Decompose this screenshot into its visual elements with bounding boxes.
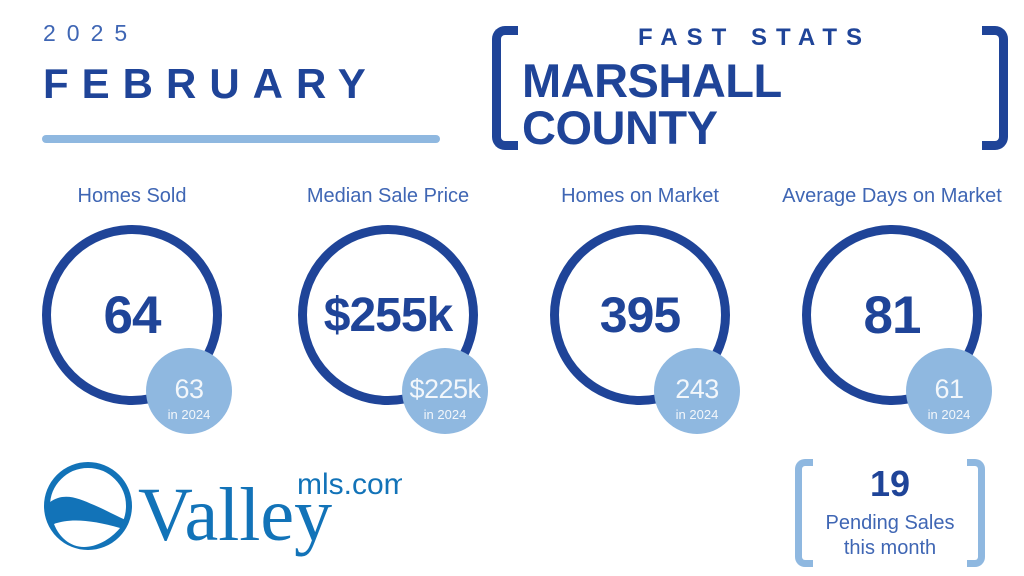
stat-card-average-days-on-market: Average Days on Market 81 61 in 2024 (764, 186, 1020, 446)
valley-suffix: mls.com (297, 468, 402, 501)
eyebrow-label: FAST STATS (638, 26, 871, 50)
prior-year-badge: 243 in 2024 (654, 348, 740, 434)
page-title: MARSHALL COUNTY (522, 57, 978, 151)
pending-sales-period: this month (844, 536, 936, 561)
title-header-text: FAST STATS MARSHALL COUNTY (522, 26, 978, 150)
pending-bracket-left-icon (795, 459, 813, 567)
stat-card-median-sale-price: Median Sale Price $255k $225k in 2024 (260, 186, 516, 446)
prior-year-caption: in 2024 (424, 408, 467, 421)
pending-sales-value: 19 (870, 466, 910, 502)
stat-card-homes-sold: Homes Sold 64 63 in 2024 (4, 186, 260, 446)
prior-year-badge: 63 in 2024 (146, 348, 232, 434)
bracket-left-icon (492, 26, 518, 150)
valleymls-logo-svg: Valley mls.com (42, 458, 402, 558)
valley-circle-icon (47, 465, 129, 547)
title-header: FAST STATS MARSHALL COUNTY (492, 26, 1008, 150)
month-label: FEBRUARY (43, 63, 470, 105)
valleymls-logo: Valley mls.com (42, 458, 402, 558)
prior-year-caption: in 2024 (928, 408, 971, 421)
prior-year-value: 61 (934, 376, 963, 403)
prior-year-value: $225k (409, 376, 480, 403)
bracket-right-icon (982, 26, 1008, 150)
pending-sales-text: 19 Pending Sales this month (817, 459, 963, 567)
prior-year-badge: 61 in 2024 (906, 348, 992, 434)
prior-year-caption: in 2024 (168, 408, 211, 421)
date-header: 2025 FEBRUARY (40, 22, 470, 105)
stat-label: Median Sale Price (260, 186, 516, 206)
stat-card-homes-on-market: Homes on Market 395 243 in 2024 (512, 186, 768, 446)
stat-label: Homes on Market (512, 186, 768, 206)
stat-label: Average Days on Market (764, 186, 1020, 206)
pending-bracket-right-icon (967, 459, 985, 567)
pending-sales-label: Pending Sales (826, 511, 955, 536)
infographic-canvas: 2025 FEBRUARY FAST STATS MARSHALL COUNTY… (0, 0, 1024, 576)
prior-year-value: 243 (675, 376, 719, 403)
stat-label: Homes Sold (4, 186, 260, 206)
prior-year-value: 63 (174, 376, 203, 403)
prior-year-badge: $225k in 2024 (402, 348, 488, 434)
year-label: 2025 (43, 22, 470, 45)
pending-sales-card: 19 Pending Sales this month (795, 459, 985, 567)
header-divider-bar (42, 135, 440, 143)
prior-year-caption: in 2024 (676, 408, 719, 421)
